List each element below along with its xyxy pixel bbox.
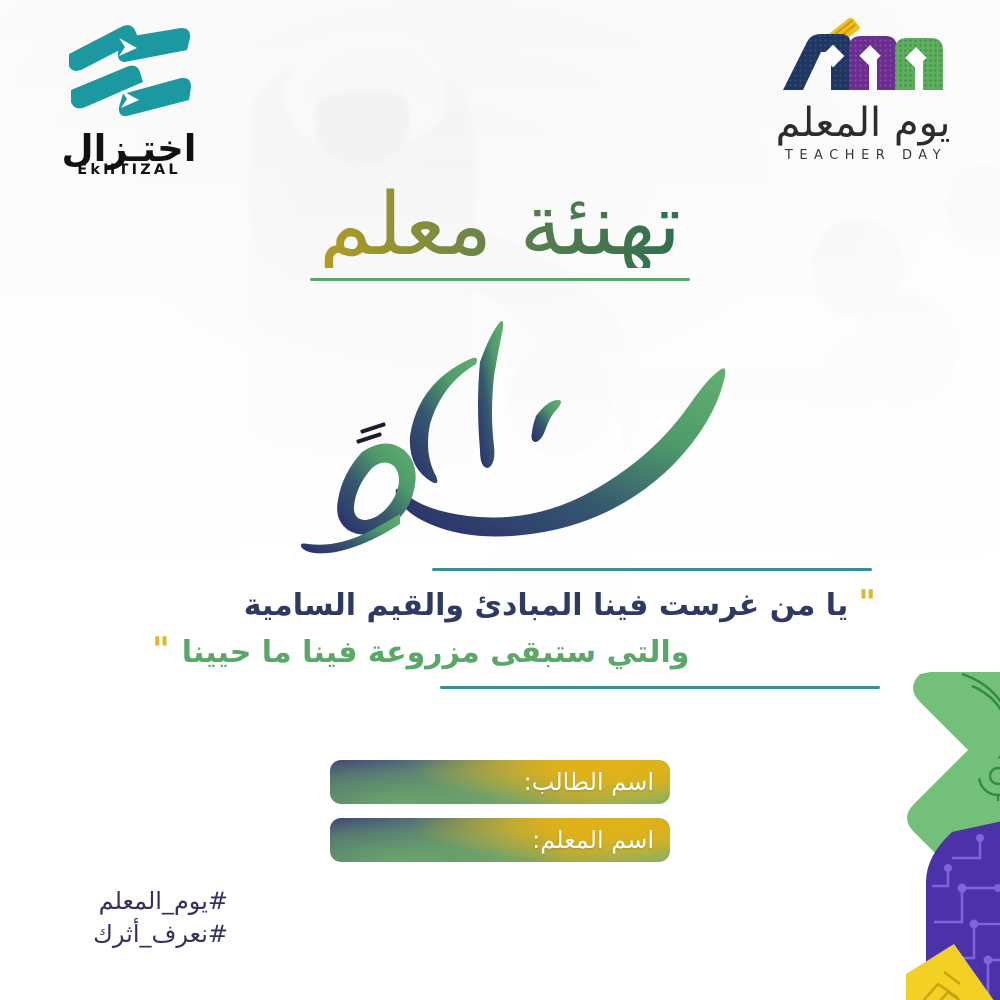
poster-title-block: تهنئة معلم (0, 182, 1000, 281)
hashtag-1: #يوم_المعلم (58, 885, 228, 918)
title-underline (310, 278, 690, 281)
student-name-label: اسم الطالب: (524, 768, 670, 796)
hashtag-2: #نعرف_أثرك (58, 918, 228, 951)
hashtags-block: #يوم_المعلم #نعرف_أثرك (58, 885, 228, 951)
quote-mark-close: " (152, 633, 170, 667)
shukran-calligraphy (290, 318, 730, 578)
teacher-day-logo: يوم المعلم TEACHER DAY (758, 18, 968, 163)
teacher-day-arabic-name: يوم المعلم (758, 102, 968, 144)
ekhtizal-mark-icon (63, 16, 195, 128)
teacher-day-latin-name: TEACHER DAY (758, 148, 968, 163)
student-name-field[interactable]: اسم الطالب: (330, 760, 670, 804)
teacher-day-greeting-poster: اختـزال EkHTIZAL (0, 0, 1000, 1000)
quote-rule-top (432, 568, 872, 571)
quote-line-2-row: والتي ستبقى مزروعة فينا ما حيينا " (150, 630, 880, 677)
teacher-name-label: اسم المعلم: (532, 826, 670, 854)
quote-block: " يا من غرست فينا المبادئ والقيم السامية… (150, 568, 880, 689)
teacher-day-mark-icon (773, 18, 953, 100)
quote-line-1-row: " يا من غرست فينا المبادئ والقيم السامية (150, 583, 880, 630)
quote-line-2: والتي ستبقى مزروعة فينا ما حيينا (182, 630, 690, 677)
quote-mark-open: " (858, 586, 876, 620)
page-title: تهنئة معلم (0, 182, 1000, 268)
ekhtizal-logo: اختـزال EkHTIZAL (44, 16, 214, 178)
quote-line-1: يا من غرست فينا المبادئ والقيم السامية (244, 583, 849, 630)
quote-rule-bottom (440, 686, 880, 689)
teacher-name-field[interactable]: اسم المعلم: (330, 818, 670, 862)
name-fields-group: اسم الطالب: اسم المعلم: (0, 760, 1000, 862)
